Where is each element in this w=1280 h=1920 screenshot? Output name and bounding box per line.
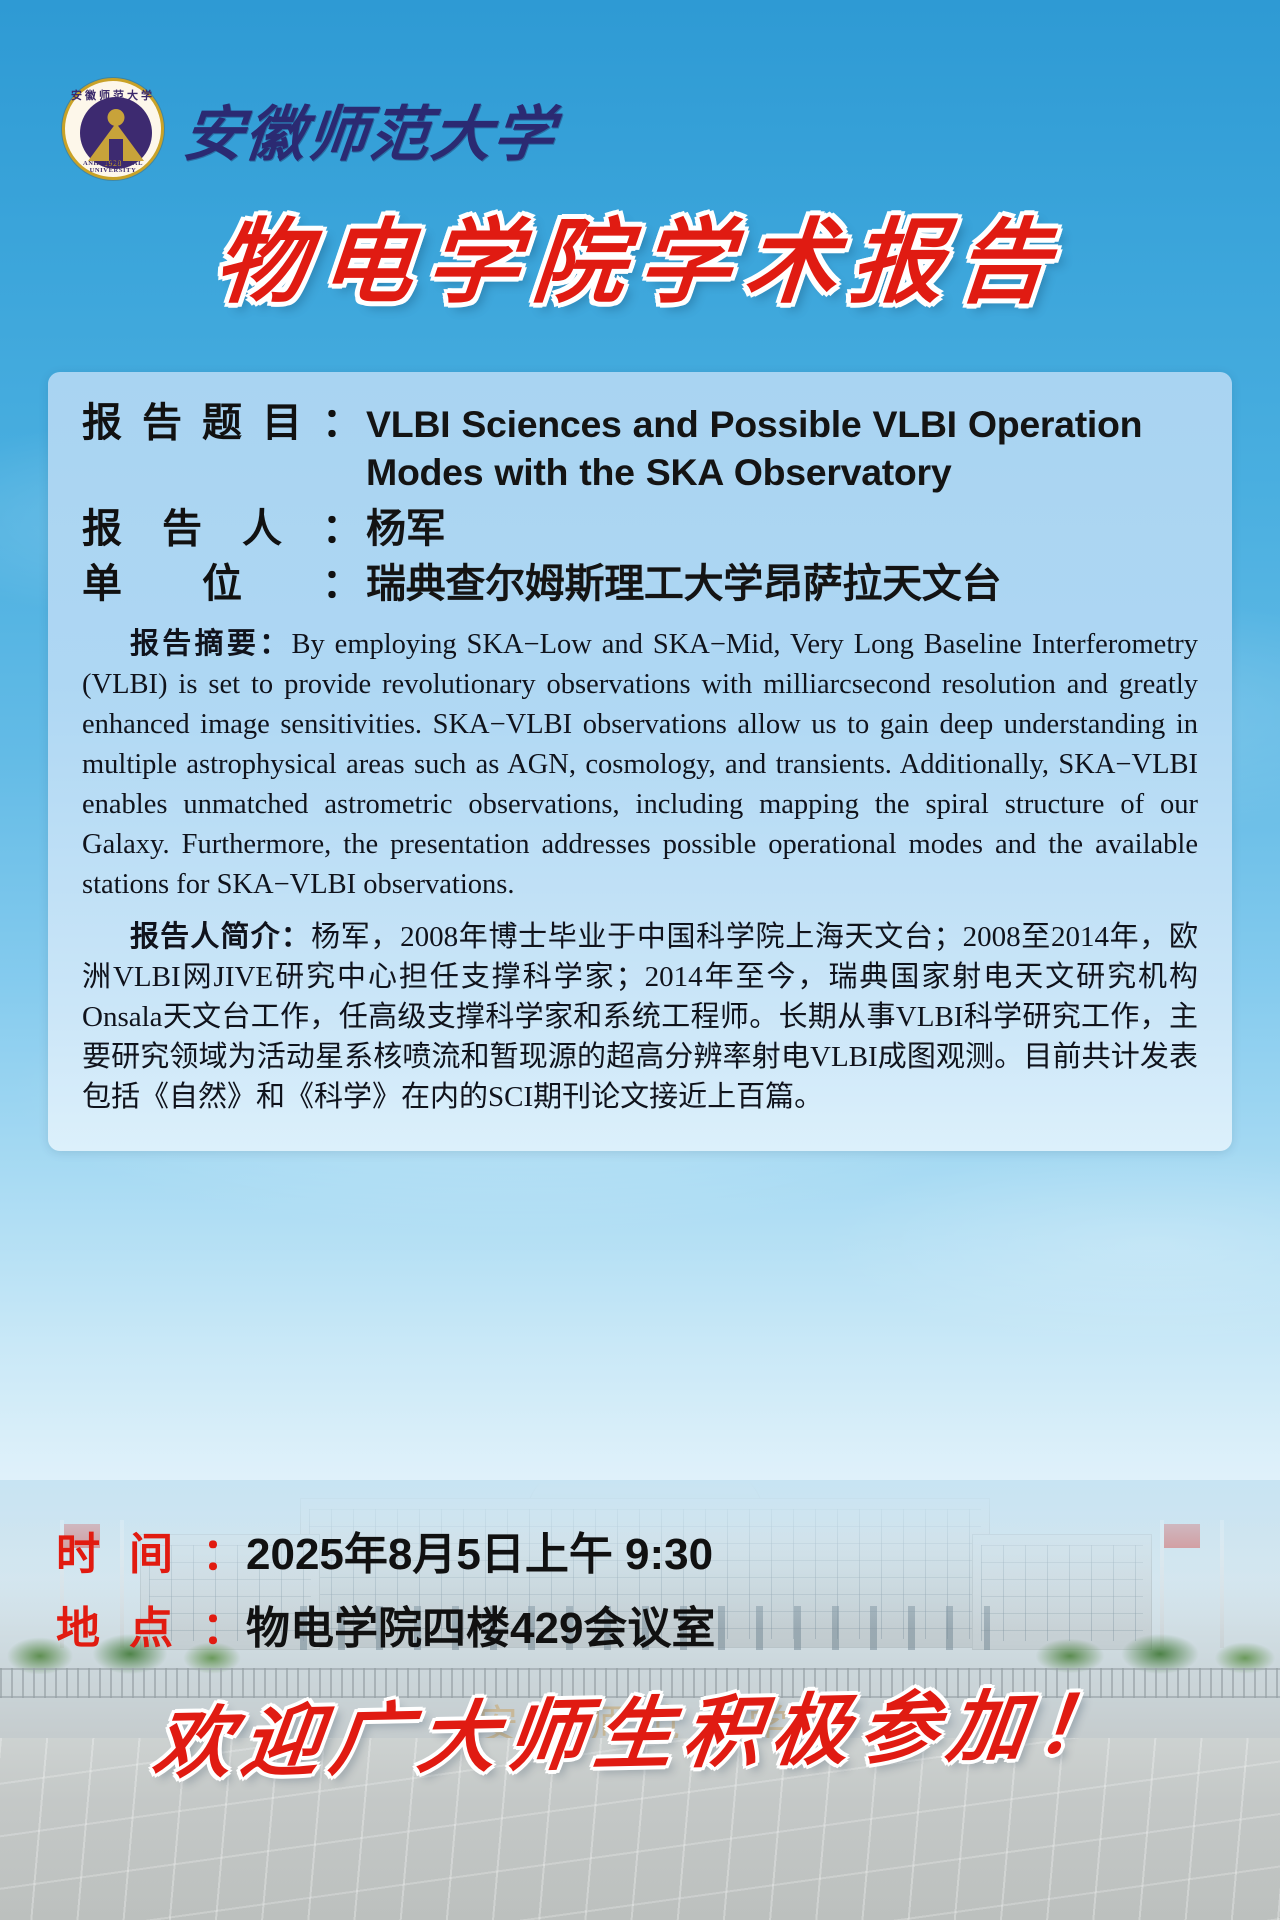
affiliation-label-char-1: 位 bbox=[202, 561, 242, 608]
speaker-label-char-2: 人 bbox=[242, 506, 282, 553]
place-label-colon: ： bbox=[202, 1592, 246, 1656]
place-label-char-0: 地 bbox=[56, 1592, 100, 1656]
affiliation-label: 单 位 ： bbox=[82, 561, 366, 608]
time-label: 时 间 ： bbox=[56, 1518, 246, 1582]
place-row: 地 点 ： 物电学院四楼429会议室 bbox=[56, 1592, 1156, 1656]
seal-ring-text-en: ANHUI NORMAL UNIVERSITY bbox=[65, 160, 161, 174]
university-branding: 安徽师范大学 1928 ANHUI NORMAL UNIVERSITY 安徽师范… bbox=[62, 78, 556, 180]
place-value: 物电学院四楼429会议室 bbox=[246, 1592, 715, 1656]
speaker-value: 杨军 bbox=[366, 506, 1198, 553]
seal-figure-icon bbox=[88, 109, 144, 165]
speaker-label-char-1: 告 bbox=[162, 506, 202, 553]
place-label-char-1: 点 bbox=[129, 1592, 173, 1656]
abstract-lead: 报告摘要： bbox=[130, 628, 292, 660]
topic-label-char-0: 报 bbox=[82, 400, 122, 447]
info-panel: 报 告 题 目 ： VLBI Sciences and Possible VLB… bbox=[48, 372, 1232, 1151]
affiliation-value: 瑞典查尔姆斯理工大学昂萨拉天文台 bbox=[366, 561, 1198, 608]
topic-label-char-1: 告 bbox=[142, 400, 182, 447]
bio-lead: 报告人简介： bbox=[130, 921, 311, 953]
bio-paragraph: 报告人简介：杨军，2008年博士毕业于中国科学院上海天文台；2008至2014年… bbox=[82, 917, 1198, 1117]
time-label-char-1: 间 bbox=[129, 1518, 173, 1582]
event-meta: 时 间 ： 2025年8月5日上午 9:30 地 点 ： 物电学院四楼429会议… bbox=[56, 1518, 1156, 1666]
time-value: 2025年8月5日上午 9:30 bbox=[246, 1518, 713, 1582]
time-row: 时 间 ： 2025年8月5日上午 9:30 bbox=[56, 1518, 1156, 1582]
poster-root: 安徽师范大学 ANHUI NORMAL UNIVERSITY 安徽师范大学 19… bbox=[0, 0, 1280, 1920]
speaker-label: 报 告 人 ： bbox=[82, 506, 366, 553]
place-label: 地 点 ： bbox=[56, 1592, 246, 1656]
time-label-colon: ： bbox=[202, 1518, 246, 1582]
affiliation-label-colon: ： bbox=[322, 561, 362, 608]
affiliation-row: 单 位 ： 瑞典查尔姆斯理工大学昂萨拉天文台 bbox=[82, 561, 1198, 608]
topic-label: 报 告 题 目 ： bbox=[82, 400, 366, 447]
speaker-label-colon: ： bbox=[322, 506, 362, 553]
topic-value-line2: Modes with the SKA Observatory bbox=[366, 448, 1198, 496]
seal-figure-notch bbox=[109, 139, 123, 161]
topic-label-char-3: 目 bbox=[262, 400, 302, 447]
speaker-label-char-0: 报 bbox=[82, 506, 122, 553]
topic-label-char-2: 题 bbox=[202, 400, 242, 447]
university-seal-icon: 安徽师范大学 1928 ANHUI NORMAL UNIVERSITY bbox=[62, 78, 164, 180]
time-label-char-0: 时 bbox=[56, 1518, 100, 1582]
affiliation-label-char-0: 单 bbox=[82, 561, 122, 608]
page-title: 物电学院学术报告 bbox=[0, 188, 1280, 321]
topic-label-colon: ： bbox=[322, 400, 362, 447]
topic-value: VLBI Sciences and Possible VLBI Operatio… bbox=[366, 400, 1198, 496]
speaker-row: 报 告 人 ： 杨军 bbox=[82, 506, 1198, 553]
abstract-paragraph: 报告摘要：By employing SKA−Low and SKA−Mid, V… bbox=[82, 624, 1198, 904]
abstract-text: By employing SKA−Low and SKA−Mid, Very L… bbox=[82, 629, 1198, 899]
topic-row: 报 告 题 目 ： VLBI Sciences and Possible VLB… bbox=[82, 400, 1198, 496]
topic-value-line1: VLBI Sciences and Possible VLBI Operatio… bbox=[366, 403, 1142, 445]
university-name: 安徽师范大学 bbox=[179, 86, 560, 173]
poster-header: 安徽师范大学 1928 ANHUI NORMAL UNIVERSITY 安徽师范… bbox=[0, 0, 1280, 215]
